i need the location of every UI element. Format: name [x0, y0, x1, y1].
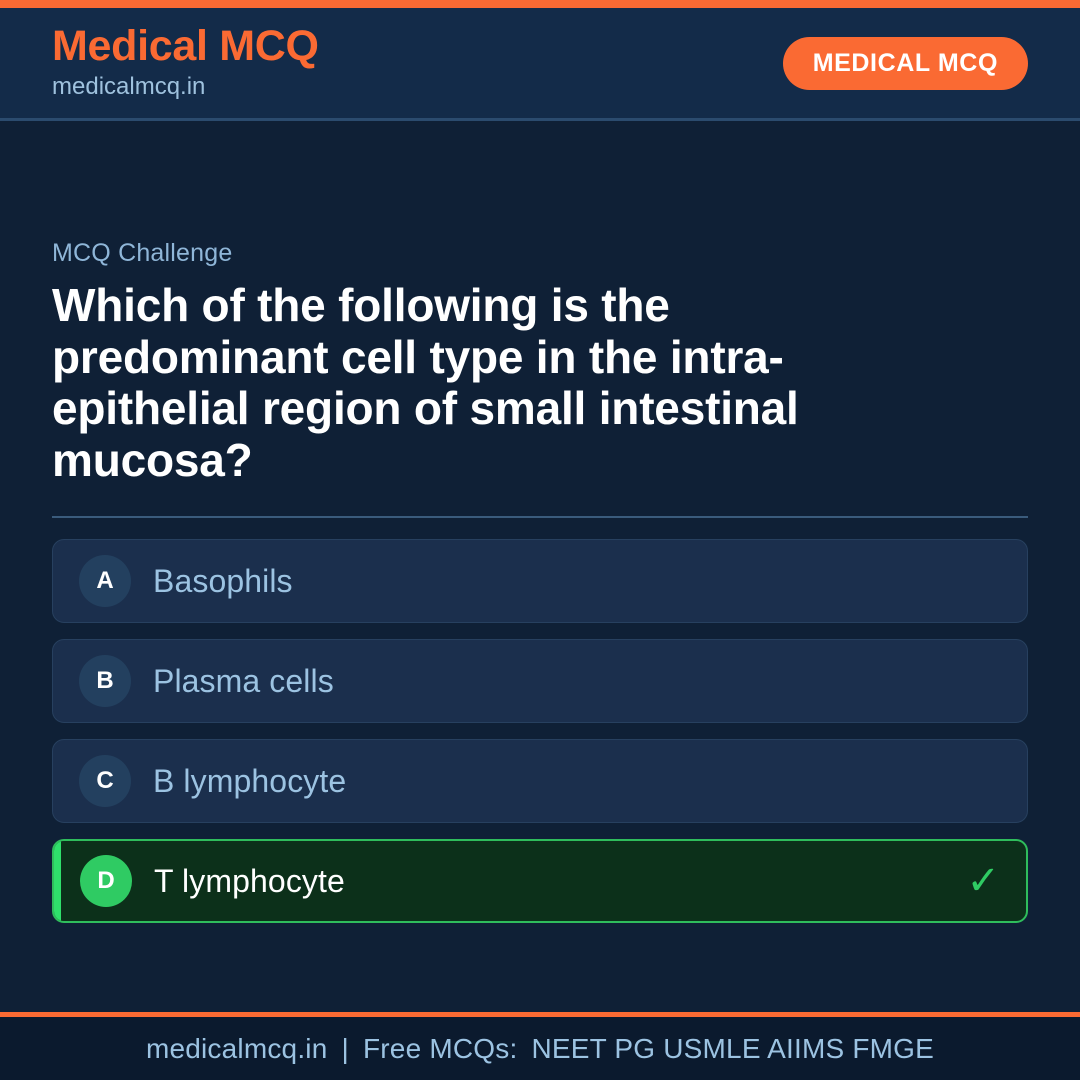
option-row-b[interactable]: B Plasma cells: [52, 639, 1028, 723]
option-badge-a: A: [79, 555, 131, 607]
brand-title: Medical MCQ: [52, 24, 319, 69]
option-label-a: Basophils: [153, 563, 293, 600]
option-label-b: Plasma cells: [153, 663, 334, 700]
correct-accent-bar: [54, 841, 61, 921]
mcq-card: Medical MCQ medicalmcq.in MEDICAL MCQ MC…: [0, 0, 1080, 1080]
header-badge[interactable]: MEDICAL MCQ: [783, 37, 1028, 90]
checkmark-icon: ✓: [966, 861, 1000, 901]
option-row-a[interactable]: A Basophils: [52, 539, 1028, 623]
options-list: A Basophils B Plasma cells C B lymphocyt…: [52, 539, 1028, 923]
header-bar: Medical MCQ medicalmcq.in MEDICAL MCQ: [0, 8, 1080, 121]
option-label-d: T lymphocyte: [154, 863, 345, 900]
question-text: Which of the following is the predominan…: [52, 280, 952, 486]
question-divider: [52, 516, 1028, 518]
footer-exams-list: NEET PG USMLE AIIMS FMGE: [517, 1033, 934, 1065]
main-content: MCQ Challenge Which of the following is …: [0, 121, 1080, 1012]
brand-block: Medical MCQ medicalmcq.in: [52, 24, 319, 102]
footer-site-label: medicalmcq.in: [146, 1033, 328, 1065]
option-badge-d: D: [80, 855, 132, 907]
option-badge-c: C: [79, 755, 131, 807]
brand-subtitle: medicalmcq.in: [52, 72, 319, 102]
option-row-d[interactable]: D T lymphocyte ✓: [52, 839, 1028, 923]
mcq-kicker: MCQ Challenge: [52, 239, 1028, 268]
footer-exams-prefix: Free MCQs:: [363, 1033, 517, 1065]
option-row-c[interactable]: C B lymphocyte: [52, 739, 1028, 823]
option-label-c: B lymphocyte: [153, 763, 346, 800]
option-badge-b: B: [79, 655, 131, 707]
footer-separator: |: [328, 1033, 363, 1065]
top-accent-strip: [0, 0, 1080, 8]
footer-bar: medicalmcq.in | Free MCQs: NEET PG USMLE…: [0, 1012, 1080, 1080]
